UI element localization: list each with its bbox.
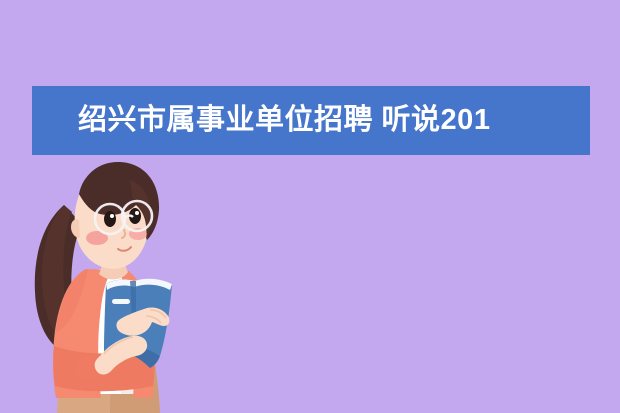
poster-canvas: 绍兴市属事业单位招聘 听说201 [0,0,620,413]
title-banner: 绍兴市属事业单位招聘 听说201 [32,86,590,155]
illustration-woman-reading-book [0,150,260,413]
page-title: 绍兴市属事业单位招聘 听说201 [32,106,490,135]
